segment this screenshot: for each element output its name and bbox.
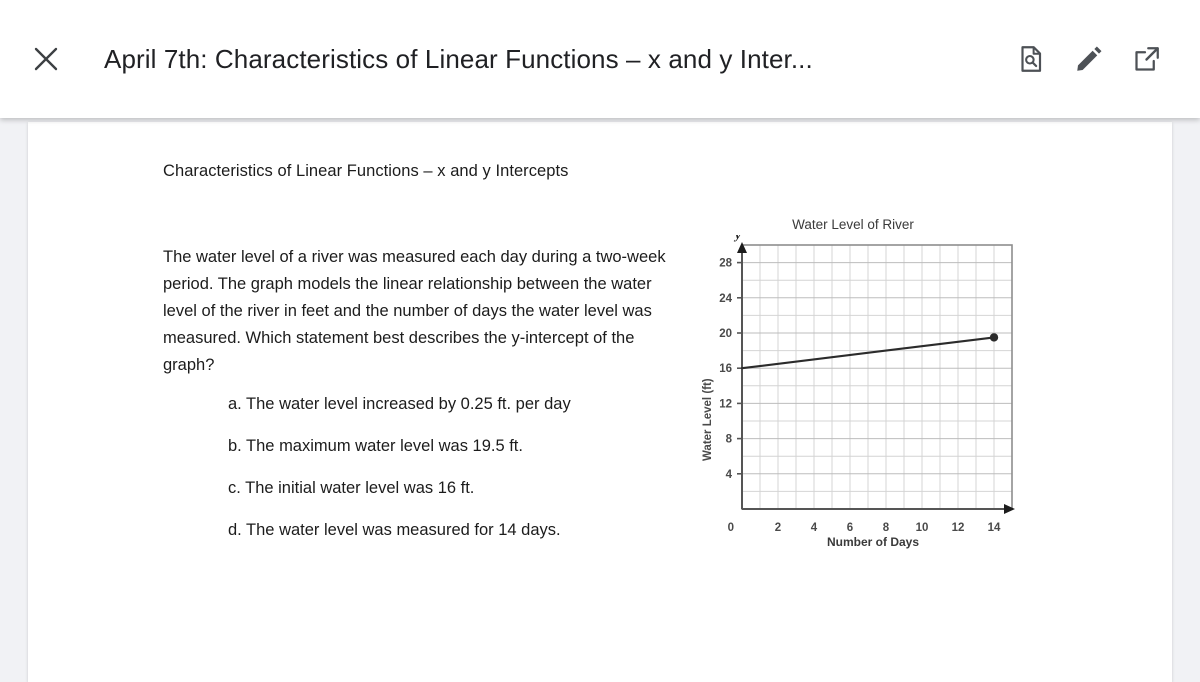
chart-plot: yx04812162024282468101214 [688,235,1018,535]
answer-choice-a: a. The water level increased by 0.25 ft.… [228,394,698,415]
app-bar: April 7th: Characteristics of Linear Fun… [0,0,1200,118]
document-scan-icon [1016,44,1046,74]
open-in-new-button[interactable] [1118,30,1176,88]
document-scan-button[interactable] [1002,30,1060,88]
x-tick-label: 12 [952,522,965,534]
y-tick-label: 16 [719,363,732,375]
y-tick-label: 8 [726,434,733,446]
y-tick-label: 0 [728,522,734,534]
water-level-chart: Water Level of River Water Level (ft) yx… [688,217,1018,557]
answer-choice-c: c. The initial water level was 16 ft. [228,478,698,499]
y-tick-label: 12 [719,398,732,410]
x-tick-label: 14 [988,522,1001,534]
chart-x-axis-label: Number of Days [728,535,1018,549]
open-in-new-icon [1132,44,1162,74]
document-page: Characteristics of Linear Functions – x … [28,122,1172,682]
close-icon [31,44,61,74]
pencil-icon [1074,44,1104,74]
x-tick-label: 6 [847,522,853,534]
answer-choice-d: d. The water level was measured for 14 d… [228,520,698,541]
answer-choice-b: b. The maximum water level was 19.5 ft. [228,436,698,457]
close-button[interactable] [16,29,76,89]
question-prompt: The water level of a river was measured … [163,244,673,379]
x-tick-label: 2 [775,522,781,534]
page-title: April 7th: Characteristics of Linear Fun… [104,44,1002,75]
edit-button[interactable] [1060,30,1118,88]
y-tick-label: 24 [719,293,732,305]
x-tick-label: 8 [883,522,890,534]
answer-choices: a. The water level increased by 0.25 ft.… [228,394,698,562]
y-tick-label: 20 [719,328,732,340]
app-bar-actions [1002,30,1176,88]
chart-title: Water Level of River [688,217,1018,232]
y-axis-letter: y [733,235,741,242]
x-tick-label: 4 [811,522,818,534]
document-heading: Characteristics of Linear Functions – x … [163,162,568,181]
data-point-marker [990,333,998,341]
x-tick-label: 10 [916,522,929,534]
document-scroll-area[interactable]: Characteristics of Linear Functions – x … [0,118,1200,676]
y-tick-label: 4 [726,469,733,481]
y-tick-label: 28 [719,258,732,270]
